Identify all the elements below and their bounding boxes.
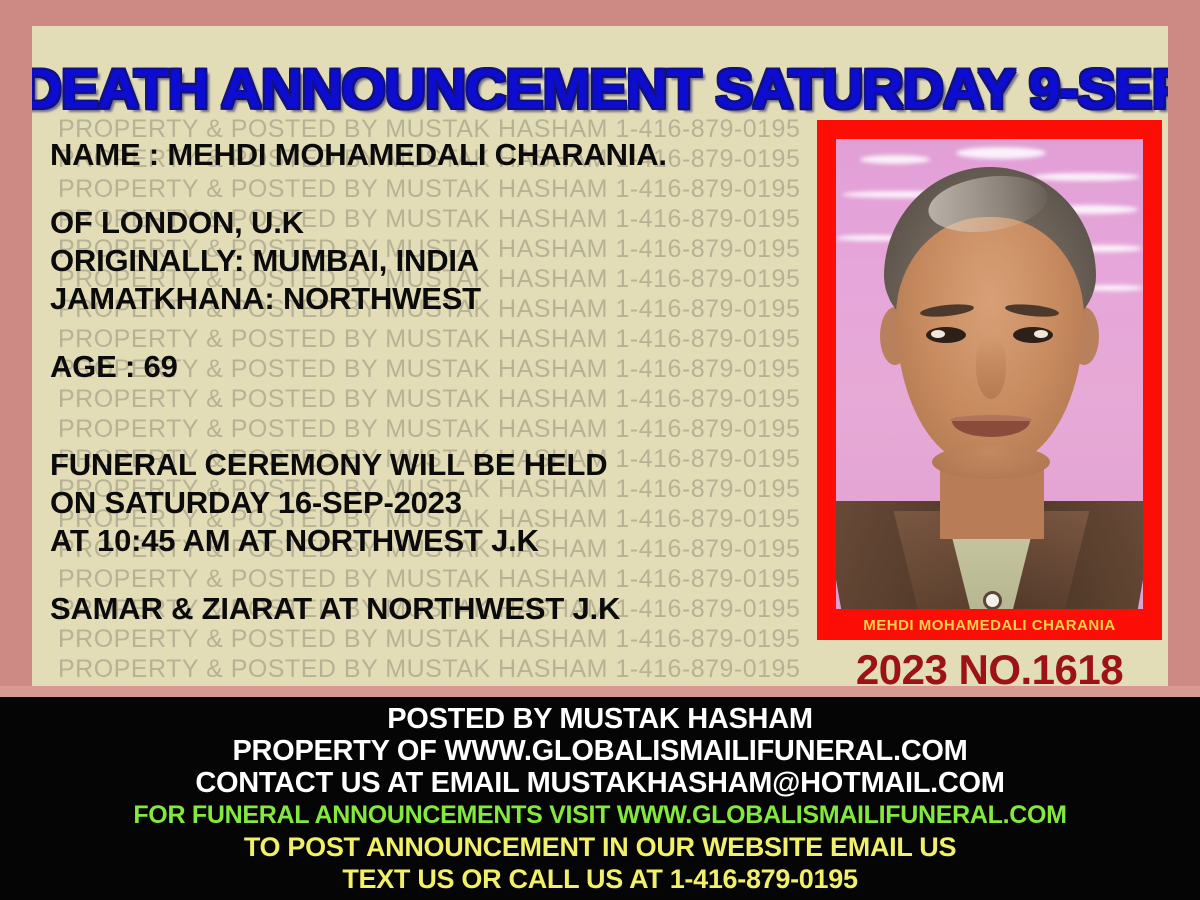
funeral-line-1: FUNERAL CEREMONY WILL BE HELD <box>50 446 810 484</box>
funeral-line-3: AT 10:45 AM AT NORTHWEST J.K <box>50 522 810 560</box>
content-panel: PROPERTY & POSTED BY MUSTAK HASHAM 1-416… <box>32 26 1168 686</box>
portrait-frame: MEHDI MOHAMEDALI CHARANIA <box>817 120 1162 640</box>
footer-phone: TEXT US OR CALL US AT 1-416-879-0195 <box>0 863 1200 895</box>
collar-button <box>983 591 1002 609</box>
footer-posted-by: POSTED BY MUSTAK HASHAM <box>0 703 1200 735</box>
spacer <box>50 318 810 348</box>
detail-of: OF LONDON, U.K <box>50 204 810 242</box>
footer-post-announcement: TO POST ANNOUNCEMENT IN OUR WEBSITE EMAI… <box>0 831 1200 863</box>
eye-highlight-left <box>931 330 945 338</box>
cloud-icon <box>860 155 930 164</box>
eye-highlight-right <box>1034 330 1048 338</box>
detail-name: NAME : MEHDI MOHAMEDALI CHARANIA. <box>50 136 810 174</box>
footer: POSTED BY MUSTAK HASHAM PROPERTY OF WWW.… <box>0 697 1200 900</box>
nose <box>976 337 1006 399</box>
footer-website-visit: FOR FUNERAL ANNOUNCEMENTS VISIT WWW.GLOB… <box>0 799 1200 831</box>
spacer <box>50 174 810 204</box>
detail-jamatkhana: JAMATKHANA: NORTHWEST <box>50 280 810 318</box>
cloud-icon <box>956 147 1046 159</box>
announcement-details: NAME : MEHDI MOHAMEDALI CHARANIA. OF LON… <box>50 136 810 628</box>
portrait-caption: MEHDI MOHAMEDALI CHARANIA <box>817 617 1162 634</box>
page-title: DEATH ANNOUNCEMENT SATURDAY 9-SEP-2023 <box>32 56 1168 121</box>
reference-number: 2023 NO.1618 <box>817 646 1162 686</box>
death-announcement-poster: PROPERTY & POSTED BY MUSTAK HASHAM 1-416… <box>0 0 1200 900</box>
portrait-photo <box>836 139 1143 609</box>
cloud-icon <box>1032 173 1140 181</box>
samar-ziarat-line: SAMAR & ZIARAT AT NORTHWEST J.K <box>50 590 810 628</box>
funeral-line-2: ON SATURDAY 16-SEP-2023 <box>50 484 810 522</box>
spacer <box>50 386 810 416</box>
spacer <box>50 560 810 590</box>
detail-age: AGE : 69 <box>50 348 810 386</box>
detail-originally: ORIGINALLY: MUMBAI, INDIA <box>50 242 810 280</box>
panel-bottom-strip <box>0 686 1200 697</box>
footer-property-of: PROPERTY OF WWW.GLOBALISMAILIFUNERAL.COM <box>0 735 1200 767</box>
chin <box>932 445 1050 479</box>
footer-contact-email: CONTACT US AT EMAIL MUSTAKHASHAM@HOTMAIL… <box>0 767 1200 799</box>
spacer <box>50 416 810 446</box>
